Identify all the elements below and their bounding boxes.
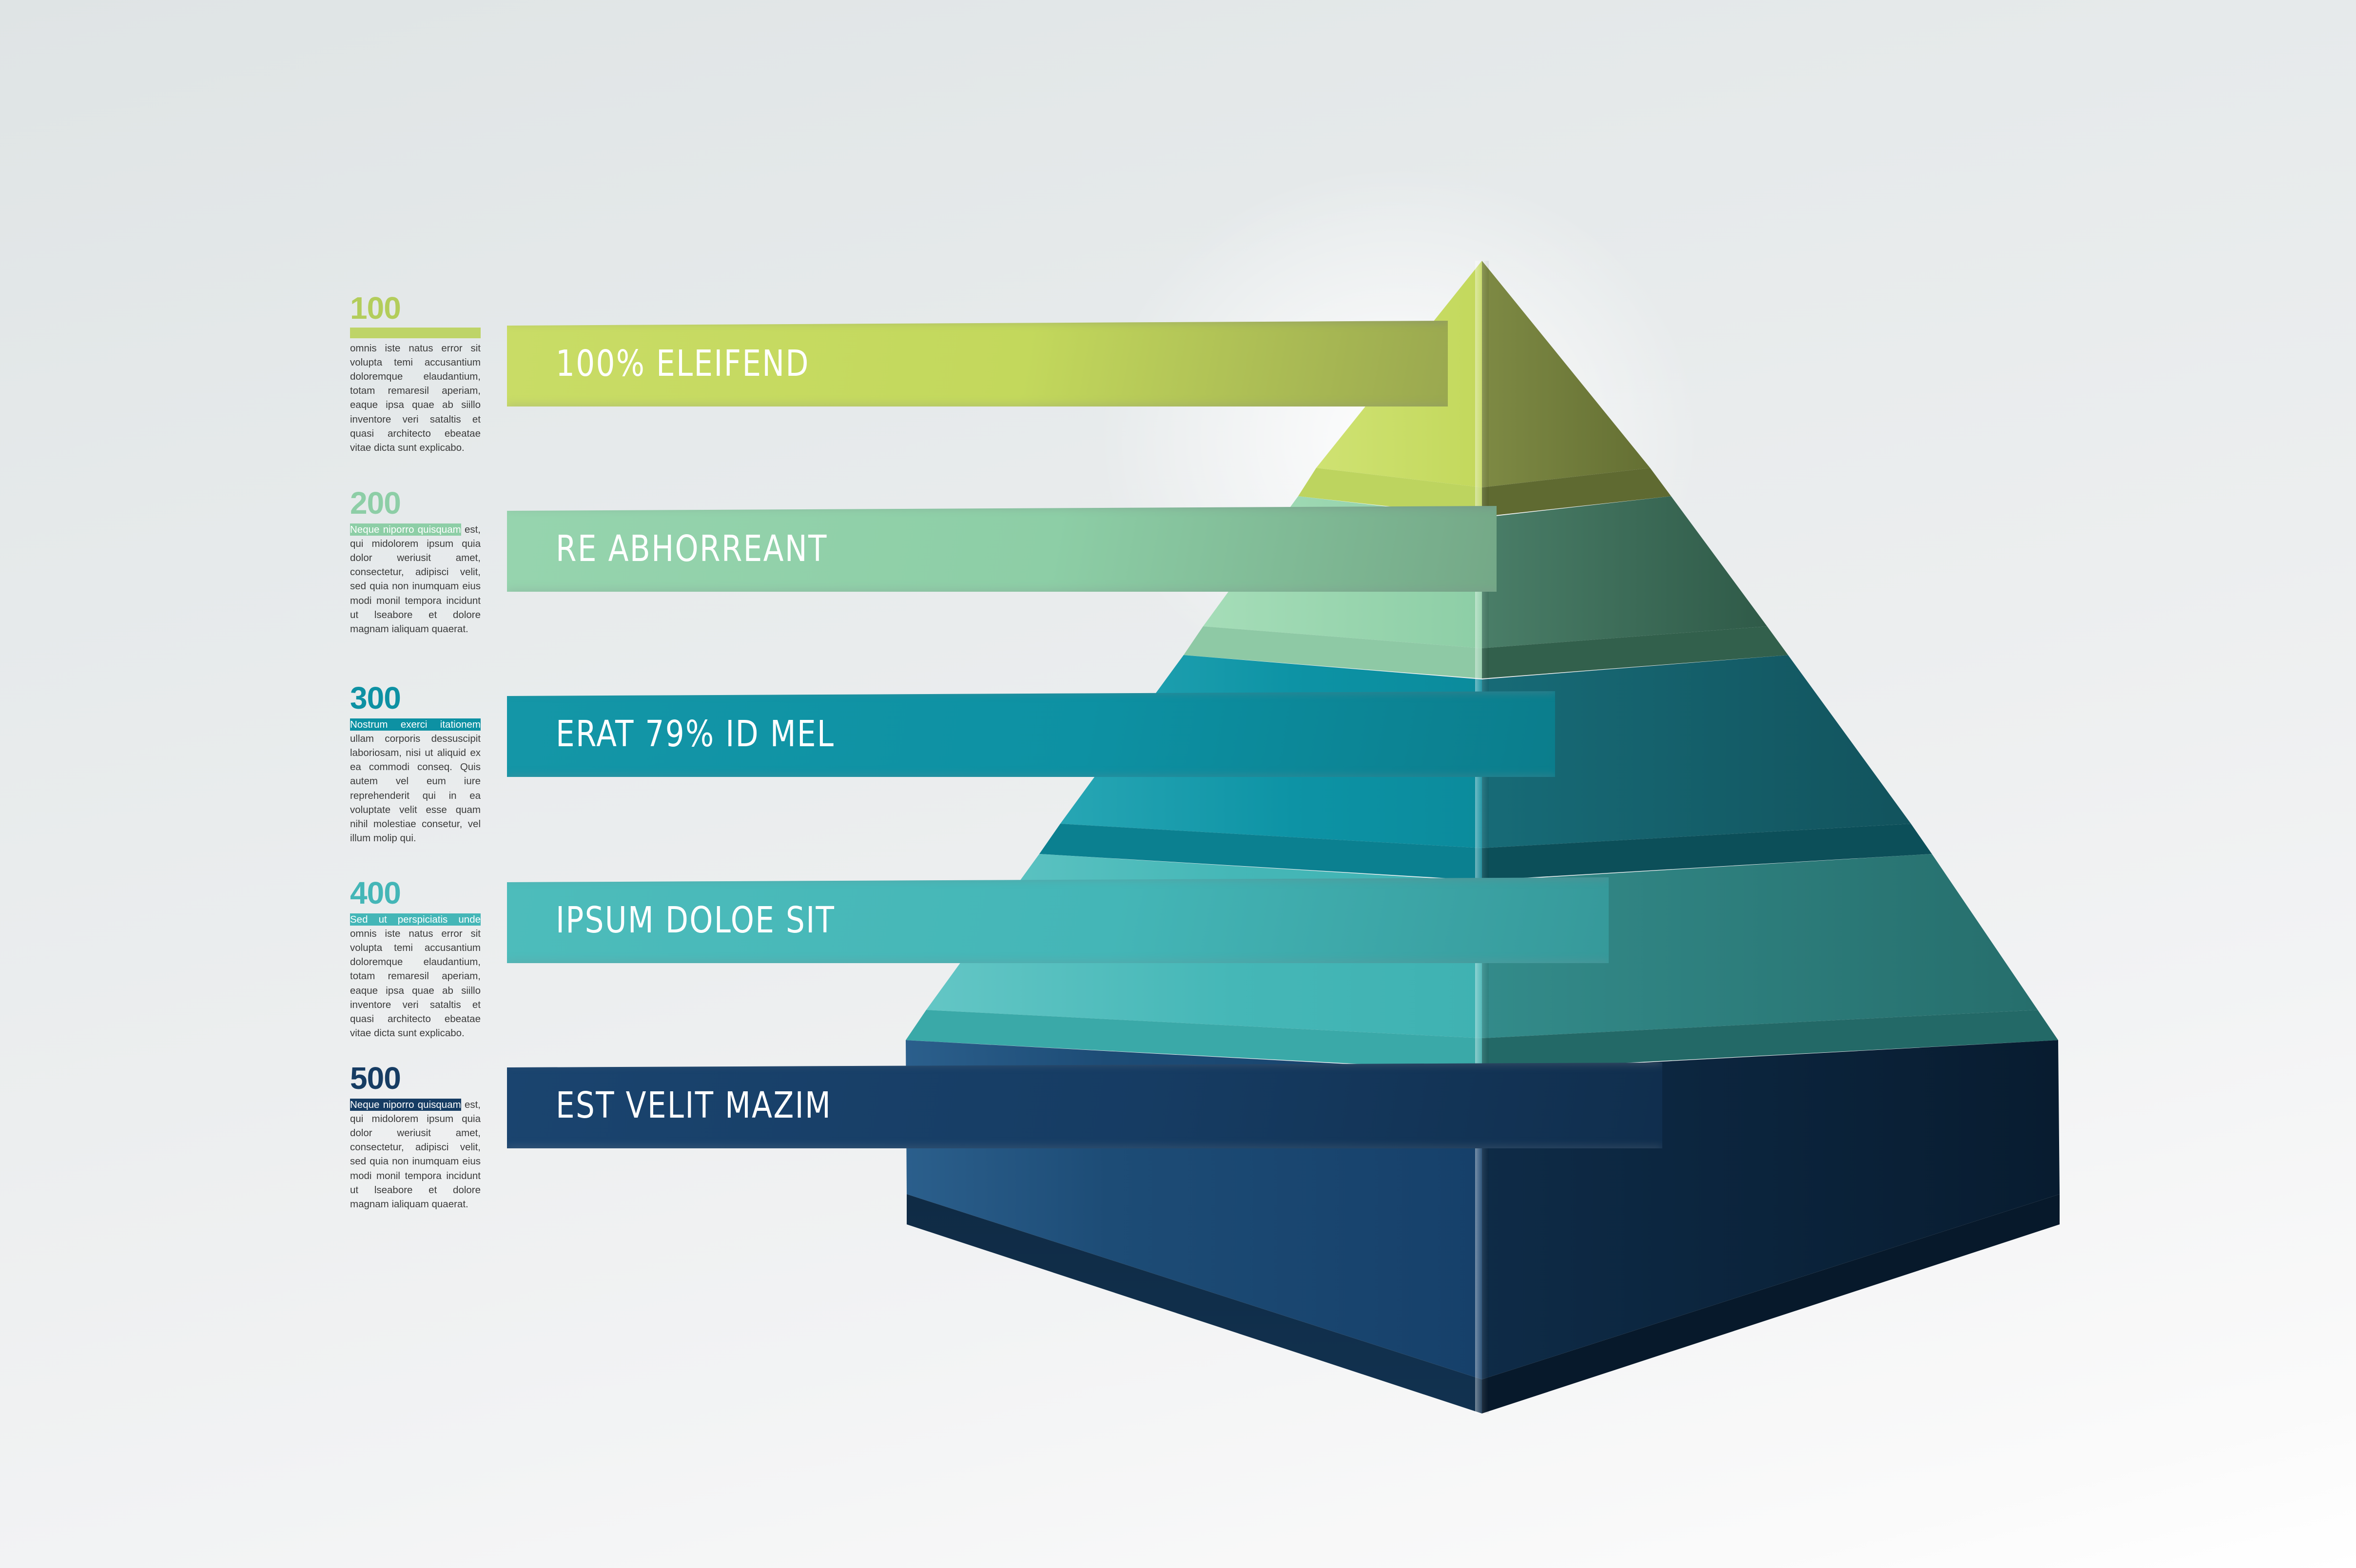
legend-block-1: 100 omnis iste natus error sit volupta t… xyxy=(350,292,496,455)
legend-highlight-5: Neque niporro quisquam xyxy=(350,1099,461,1111)
legend-rule-1 xyxy=(350,328,481,338)
legend-block-3: 300 Nostrum exerci itationem ullam corpo… xyxy=(350,682,496,845)
legend-block-2: 200 Neque niporro quisquam est, qui mido… xyxy=(350,487,496,636)
banner-label-2: RE ABHORREANT xyxy=(556,528,828,570)
legend-text-5: est, qui midolorem ipsum quia dolor weri… xyxy=(350,1099,481,1210)
banner-label-4: IPSUM DOLOE SIT xyxy=(556,899,835,941)
legend-body-4: Sed ut perspiciatis unde omnis iste natu… xyxy=(350,912,481,1040)
legend-body-2: Neque niporro quisquam est, qui midolore… xyxy=(350,523,481,636)
legend-block-4: 400 Sed ut perspiciatis unde omnis iste … xyxy=(350,877,496,1040)
banner-label-3: ERAT 79% ID MEL xyxy=(556,713,835,755)
legend-block-5: 500 Neque niporro quisquam est, qui mido… xyxy=(350,1063,496,1211)
legend-body-3: Nostrum exerci itationem ullam corporis … xyxy=(350,717,481,845)
legend-number-5: 500 xyxy=(350,1063,496,1094)
banner-label-1: 100% ELEIFEND xyxy=(556,343,810,385)
legend-number-4: 400 xyxy=(350,877,496,909)
legend-text-3: ullam corporis dessuscipit laboriosam, n… xyxy=(350,733,481,844)
legend-highlight-4: Sed ut perspiciatis unde xyxy=(350,913,481,926)
banner-level-2[interactable]: RE ABHORREANT xyxy=(507,506,1497,592)
legend-text-2: est, qui midolorem ipsum quia dolor weri… xyxy=(350,524,481,635)
legend-number-1: 100 xyxy=(350,292,496,324)
legend-body-1: omnis iste natus error sit volupta temi … xyxy=(350,341,481,455)
legend-highlight-3: Nostrum exerci itationem xyxy=(350,718,481,731)
legend-body-5: Neque niporro quisquam est, qui midolore… xyxy=(350,1098,481,1211)
banner-level-1[interactable]: 100% ELEIFEND xyxy=(507,321,1448,407)
banner-label-5: EST VELIT MAZIM xyxy=(556,1084,832,1126)
banner-level-3[interactable]: ERAT 79% ID MEL xyxy=(507,691,1555,777)
legend-text-4: omnis iste natus error sit volupta temi … xyxy=(350,928,481,1039)
legend-highlight-2: Neque niporro quisquam xyxy=(350,523,461,536)
legend-number-2: 200 xyxy=(350,487,496,519)
banner-level-5[interactable]: EST VELIT MAZIM xyxy=(507,1063,1662,1148)
legend-number-3: 300 xyxy=(350,682,496,714)
banner-level-4[interactable]: IPSUM DOLOE SIT xyxy=(507,877,1609,963)
infographic-canvas: 100% ELEIFEND RE ABHORREANT ERAT 79% ID … xyxy=(0,0,2356,1568)
